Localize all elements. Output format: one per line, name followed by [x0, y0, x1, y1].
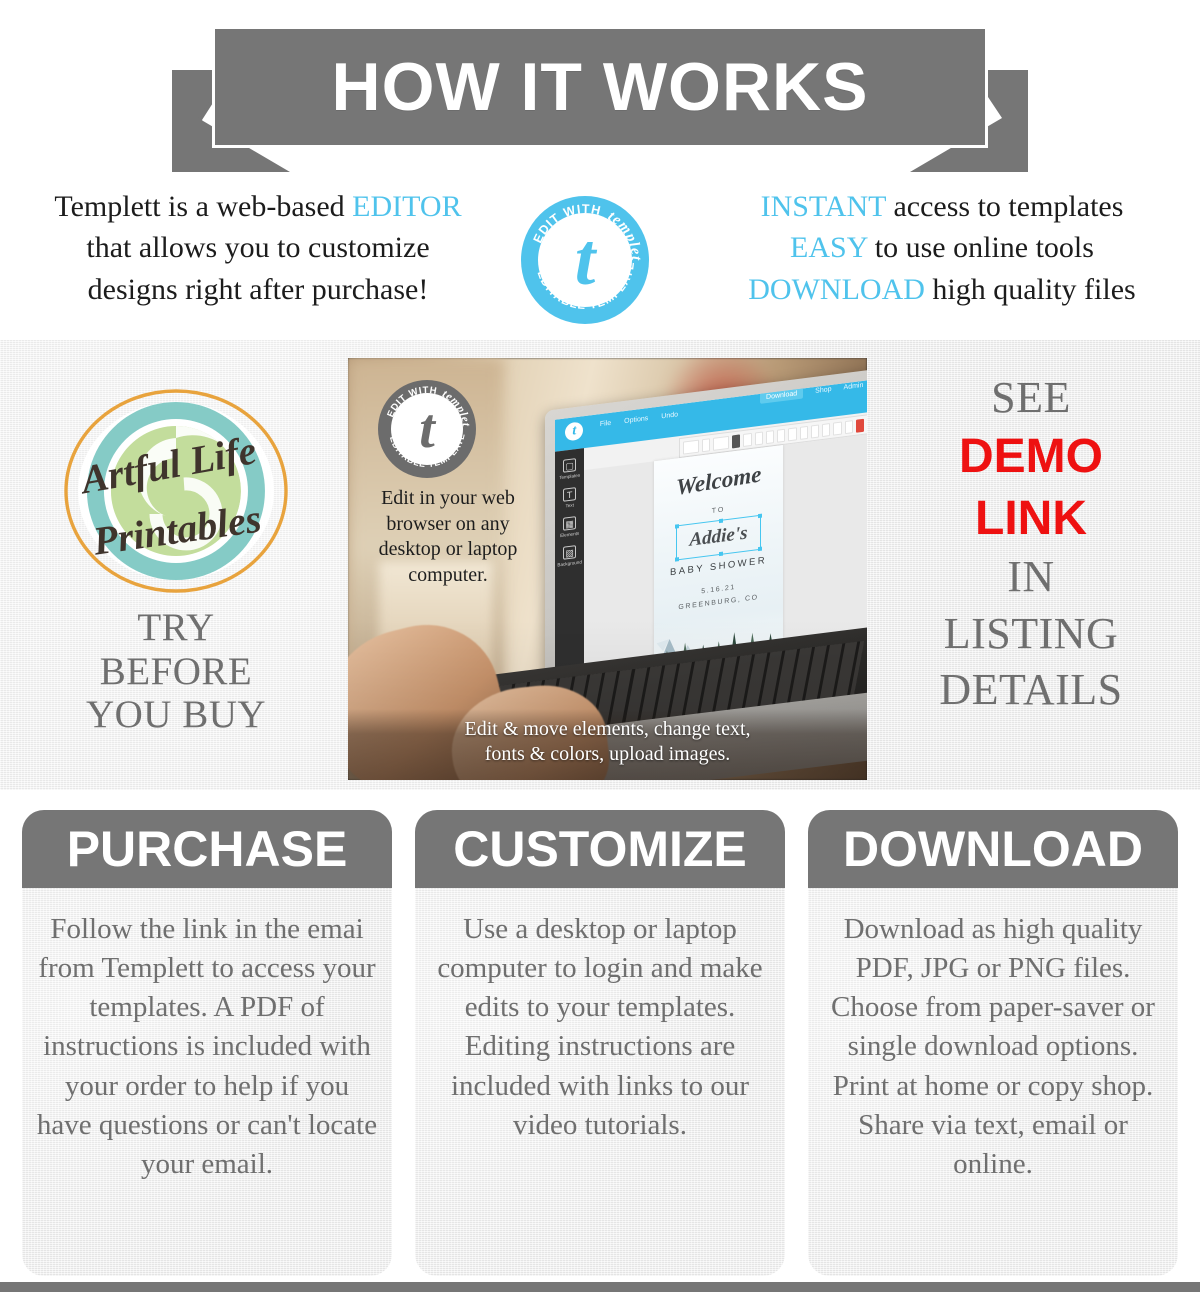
easy-highlight: EASY — [790, 231, 867, 264]
photo-caption-left: Edit in your web browser on any desktop … — [364, 486, 532, 588]
demo-line-link: LINK — [870, 488, 1192, 549]
card-download-header: DOWNLOAD — [808, 810, 1178, 888]
card-purchase-title: PURCHASE — [67, 824, 348, 874]
middle-band: Artful Life Printables TRY BEFORE YOU BU… — [0, 340, 1200, 790]
how-it-works-infographic: HOW IT WORKS Templett is a web-based EDI… — [0, 0, 1200, 1292]
intro-left-line2: that allows you to customize — [8, 227, 508, 268]
card-download-title: DOWNLOAD — [843, 824, 1143, 874]
intro-left-text: Templett is a web-based EDITOR that allo… — [8, 186, 508, 310]
demo-link-column: SEE DEMO LINK IN LISTING DETAILS — [870, 370, 1192, 718]
instant-highlight: INSTANT — [761, 190, 886, 223]
try-line3: YOU BUY — [8, 693, 344, 737]
card-customize: CUSTOMIZE Use a desktop or laptop comput… — [415, 810, 785, 1276]
intro-left-line1: Templett is a web-based EDITOR — [8, 186, 508, 227]
intro-right-line1: INSTANT access to templates — [692, 186, 1192, 227]
card-purchase: PURCHASE Follow the link in the emai fro… — [22, 810, 392, 1276]
download-highlight: DOWNLOAD — [748, 273, 925, 306]
card-purchase-body: Follow the link in the emai from Templet… — [22, 888, 392, 1276]
steps-cards-row: PURCHASE Follow the link in the emai fro… — [0, 796, 1200, 1292]
try-line1: TRY — [8, 606, 344, 650]
ribbon-banner: HOW IT WORKS — [212, 26, 988, 148]
templett-badge-photo-icon: EDIT WITH templett EDITABLE TEMPLATE t — [378, 380, 476, 478]
demo-line-see: SEE — [870, 370, 1192, 426]
photo-caption-bottom-line2: fonts & colors, upload images. — [348, 742, 867, 768]
shop-logo-column: Artful Life Printables TRY BEFORE YOU BU… — [8, 354, 344, 737]
demo-line-listing: LISTING — [870, 606, 1192, 662]
card-customize-body: Use a desktop or laptop computer to logi… — [415, 888, 785, 1276]
header-ribbon: HOW IT WORKS — [0, 26, 1200, 172]
intro-right-line3: DOWNLOAD high quality files — [692, 269, 1192, 310]
templett-badge-icon: EDIT WITH templett EDITABLE TEMPLATE t — [521, 196, 649, 324]
intro-left-line3: designs right after purchase! — [8, 269, 508, 310]
card-download: DOWNLOAD Download as high quality PDF, J… — [808, 810, 1178, 1276]
card-customize-title: CUSTOMIZE — [453, 824, 747, 874]
try-line2: BEFORE — [8, 650, 344, 694]
demo-line-details: DETAILS — [870, 662, 1192, 718]
photo-caption-bottom-line1: Edit & move elements, change text, — [348, 717, 867, 743]
badge-letter-t: t — [521, 196, 649, 324]
photo-caption-bottom: Edit & move elements, change text, fonts… — [348, 709, 867, 780]
intro-right-text: INSTANT access to templates EASY to use … — [692, 186, 1192, 310]
demo-line-demo: DEMO — [870, 426, 1192, 487]
bottom-rule — [0, 1282, 1200, 1292]
page-title: HOW IT WORKS — [331, 53, 868, 121]
card-purchase-header: PURCHASE — [22, 810, 392, 888]
artful-life-printables-logo: Artful Life Printables — [59, 386, 293, 596]
try-before-you-buy: TRY BEFORE YOU BUY — [8, 606, 344, 737]
intro-right-line2: EASY to use online tools — [692, 227, 1192, 268]
card-customize-header: CUSTOMIZE — [415, 810, 785, 888]
editor-highlight: EDITOR — [352, 190, 461, 223]
demo-line-in: IN — [870, 549, 1192, 605]
card-download-body: Download as high quality PDF, JPG or PNG… — [808, 888, 1178, 1276]
laptop-photo: t File Options Undo Download Shop Admin … — [348, 358, 867, 780]
badge-photo-letter-t: t — [378, 380, 476, 478]
